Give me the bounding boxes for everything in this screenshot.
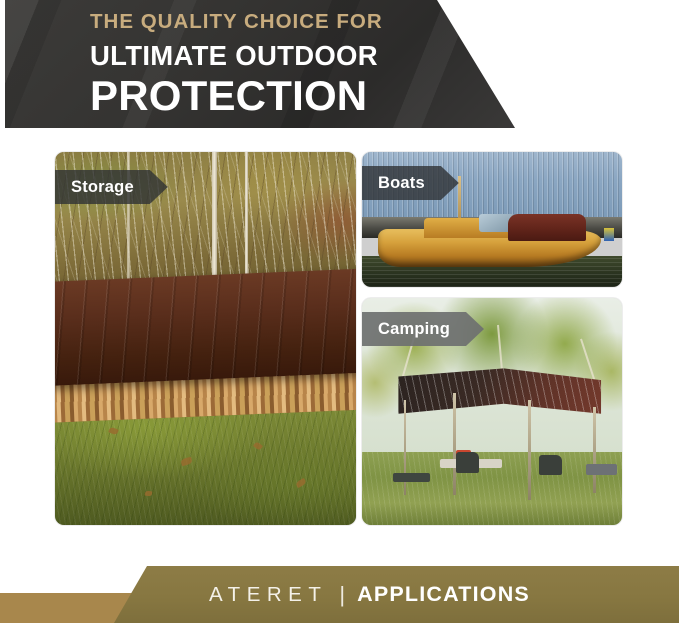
footer-section-name: APPLICATIONS [357,582,530,607]
header-text-block: THE QUALITY CHOICE FOR ULTIMATE OUTDOOR … [90,12,470,117]
camping-chair [539,455,562,475]
camping-pole [453,393,456,495]
tile-camping[interactable]: Camping [362,298,622,525]
camping-cot [586,464,617,475]
storage-photo [55,152,356,525]
header-headline: ULTIMATE OUTDOOR [90,42,470,70]
boats-cover-tarp [508,214,586,241]
footer-brand-name: ATERET [209,583,327,607]
header-eyebrow: THE QUALITY CHOICE FOR [90,12,470,33]
application-tile-grid: Storage Boats [55,152,622,525]
footer-divider: | [339,582,345,608]
boats-flag [604,228,614,241]
tile-boats[interactable]: Boats [362,152,622,287]
tile-label-storage: Storage [55,170,168,204]
tile-storage[interactable]: Storage [55,152,356,525]
tile-label-boats: Boats [362,166,459,200]
camping-pole [528,400,531,500]
footer-text-block: ATERET | APPLICATIONS [0,566,679,623]
header-subheadline: PROTECTION [90,75,470,117]
tile-label-camping: Camping [362,312,484,346]
camping-ground-mat [393,473,429,482]
storage-tarp [55,268,356,386]
camping-chair [456,452,479,472]
camping-pole [593,407,596,493]
header-banner: THE QUALITY CHOICE FOR ULTIMATE OUTDOOR … [5,0,517,128]
